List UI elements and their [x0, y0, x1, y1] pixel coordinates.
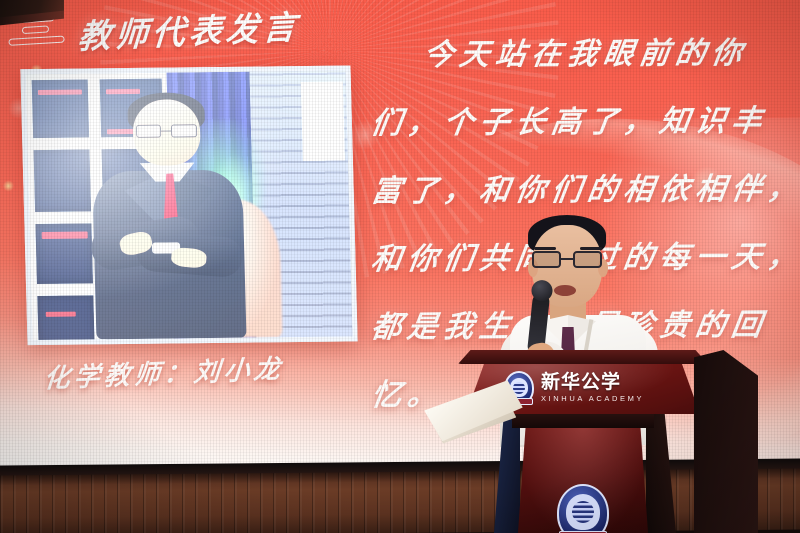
lectern-podium: 新华公学 XINHUA ACADEMY [458, 350, 708, 533]
podium-branding: 新华公学 XINHUA ACADEMY [504, 371, 644, 405]
podium-front-column [518, 424, 648, 533]
speaker-mouth [554, 285, 576, 296]
teacher-portrait-photo [20, 65, 357, 345]
led-highlight-wash [25, 71, 352, 340]
academy-name-cn: 新华公学 [541, 373, 644, 392]
portrait-image [25, 71, 352, 340]
speech-line: 今天站在我眼前的你 [369, 28, 799, 75]
speech-line: 们，个子长高了，知识丰 [369, 96, 799, 143]
bokeh-dot [3, 180, 14, 191]
screen-title: 教师代表发言 [76, 0, 301, 58]
podium-top-edge [458, 350, 708, 364]
photo-scene: 教师代表发言 [0, 0, 800, 533]
speaker-eyeglasses-icon [532, 251, 602, 268]
photo-caption: 化学教师：刘小龙 [42, 348, 285, 395]
auditorium-wall-top [0, 0, 64, 18]
academy-name-en: XINHUA ACADEMY [541, 395, 644, 403]
podium-right-shadow [694, 350, 758, 533]
podium-neck [512, 412, 654, 428]
speech-line: 富了，和你们的相依相伴， [369, 164, 799, 211]
academy-crest-icon [557, 484, 609, 533]
speaker-eyebrow [534, 247, 556, 250]
speaker-eyebrow [580, 247, 602, 250]
academy-name-block: 新华公学 XINHUA ACADEMY [541, 373, 644, 403]
